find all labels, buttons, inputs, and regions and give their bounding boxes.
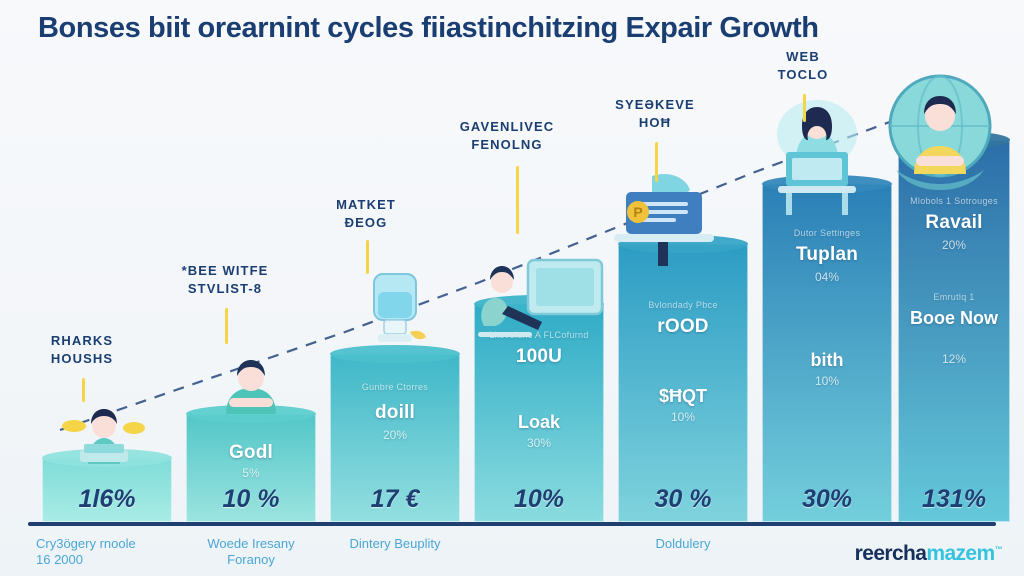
callout-3-line2: ĐEOG	[281, 214, 451, 232]
caption-5: Doldulery	[598, 536, 768, 552]
bar-5-value: 30 %	[618, 485, 748, 514]
callout-6-line2: TOCLO	[718, 66, 888, 84]
callout-6-line1: WEB	[718, 48, 888, 66]
bar-5-sublabel: Bvlondady Pbce	[618, 300, 748, 310]
callout-5: SYEƏKEVE HOĦ	[570, 96, 740, 131]
callout-3-line1: MATKET	[281, 196, 451, 214]
callout-1-line1: RHARKS	[0, 332, 167, 350]
man-arms-crossed-illustration	[196, 352, 306, 416]
bar-6-pct-primary: 04%	[762, 270, 892, 284]
bar-1-value: 1l6%	[42, 485, 172, 514]
bar-4-value: 10%	[474, 485, 604, 514]
bar-7-sublabel: Mlobols 1 Sotrouges	[898, 196, 1010, 206]
bar-7-label-primary: Ravail	[898, 212, 1010, 234]
bar-2[interactable]: Godl 5% 10 %	[186, 414, 316, 522]
woman-at-desk-illustration	[28, 398, 178, 466]
callout-5-stem	[655, 142, 658, 182]
bar-7-sublabel-secondary: Emrutlq 1	[898, 292, 1010, 302]
callout-5-line2: HOĦ	[570, 114, 740, 132]
callout-3-stem	[366, 240, 369, 274]
callout-2-line2: STVLIST-8	[140, 280, 310, 298]
bar-6-label-secondary: bith	[762, 350, 892, 371]
callout-4-stem	[516, 166, 519, 234]
bar-5[interactable]: Bvlondady Pbce rOOD $ĦQT 10% 30 %	[618, 244, 748, 522]
caption-5-line1: Doldulery	[598, 536, 768, 552]
callout-5-line1: SYEƏKEVE	[570, 96, 740, 114]
bar-3-sublabel: Gunbre Ctorres	[330, 382, 460, 392]
callout-2-line1: *BEE WITFE	[140, 262, 310, 280]
bar-7-label-secondary: Booe Now	[898, 308, 1010, 329]
woman-laptop-desk-illustration	[744, 90, 890, 218]
bar-6-sublabel: Dutor Settinges	[762, 228, 892, 238]
globe-person-illustration	[872, 70, 1008, 194]
logo-secondary-text: mazem	[926, 542, 994, 565]
bar-3-label-primary: doill	[330, 402, 460, 424]
svg-text:P: P	[633, 204, 642, 220]
bar-6[interactable]: Dutor Settinges Tuplan 04% bith 10% 30%	[762, 184, 892, 522]
caption-3: Dintery Beuplity	[310, 536, 480, 552]
bar-3-value: 17 €	[330, 485, 460, 514]
bar-6-label-primary: Tuplan	[762, 244, 892, 266]
callout-2: *BEE WITFE STVLIST-8	[140, 262, 310, 297]
bar-4-label-secondary: Loak	[474, 412, 604, 433]
logo-primary-text: reercha	[855, 542, 927, 565]
brand-logo[interactable]: reerchamazem™	[855, 542, 1002, 566]
bar-5-pct-secondary: 10%	[618, 410, 748, 424]
callout-4-line2: FENOLNG	[422, 136, 592, 154]
bar-2-label-primary: Godl	[186, 442, 316, 464]
callout-3: MATKET ĐEOG	[281, 196, 451, 231]
bar-4-pct-secondary: 30%	[474, 436, 604, 450]
bar-1[interactable]: 1l6%	[42, 458, 172, 522]
bar-7-value: 131%	[898, 485, 1010, 514]
bar-3[interactable]: Gunbre Ctorres doill 20% 17 €	[330, 354, 460, 522]
bar-6-value: 30%	[762, 485, 892, 514]
infographic-canvas: Bonses biit orearnint cycles fiiastinchi…	[0, 0, 1024, 576]
callout-1-line2: HOUSHS	[0, 350, 167, 368]
caption-3-line1: Dintery Beuplity	[310, 536, 480, 552]
caption-2-line2: Foranoy	[166, 552, 336, 568]
callout-4: GAVENLIVEC FENOLNG	[422, 118, 592, 153]
bar-2-value: 10 %	[186, 485, 316, 514]
callout-2-stem	[225, 308, 228, 344]
callout-1: RHARKS HOUSHS	[0, 332, 167, 367]
callout-1-stem	[82, 378, 85, 402]
coin-laptop-stand-illustration: P	[600, 168, 732, 280]
bar-7[interactable]: Mlobols 1 Sotrouges Ravail 20% Emrutlq 1…	[898, 140, 1010, 522]
callout-6: WEB TOCLO	[718, 48, 888, 83]
callout-4-line1: GAVENLIVEC	[422, 118, 592, 136]
trademark-symbol: ™	[995, 545, 1002, 554]
bar-7-pct-primary: 20%	[898, 238, 1010, 252]
water-dispenser-illustration	[348, 268, 444, 360]
bar-2-pct-primary: 5%	[186, 466, 316, 480]
person-armchair-monitor-illustration	[462, 248, 612, 350]
bar-7-pct-secondary: 12%	[898, 352, 1010, 366]
bar-5-label-secondary: $ĦQT	[618, 386, 748, 407]
baseline-axis	[28, 522, 996, 526]
bar-6-pct-secondary: 10%	[762, 374, 892, 388]
callout-6-stem	[803, 94, 806, 122]
bar-5-label-primary: rOOD	[618, 316, 748, 338]
bar-3-pct-primary: 20%	[330, 428, 460, 442]
